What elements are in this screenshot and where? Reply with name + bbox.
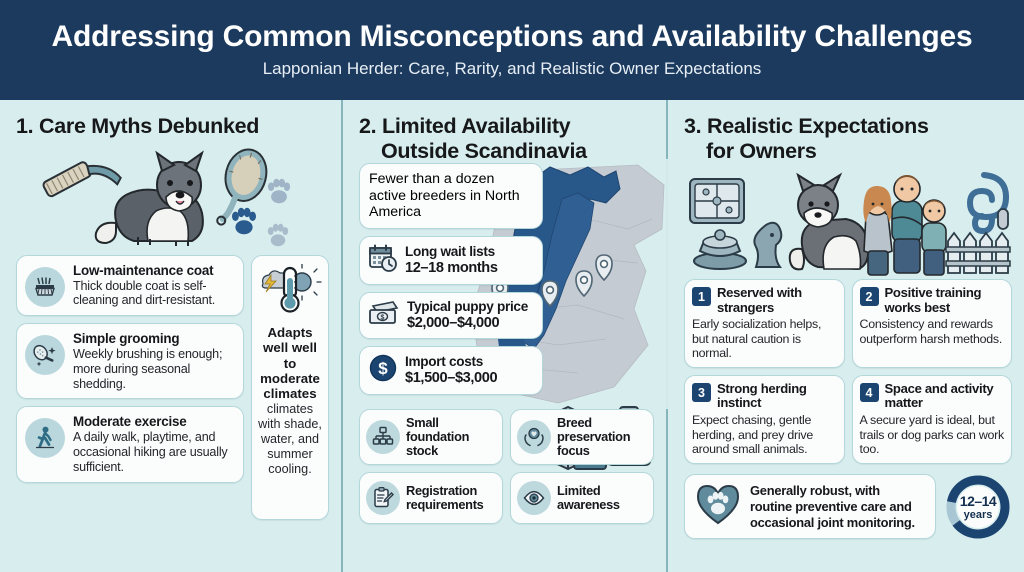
heart-paw-icon [695, 483, 741, 530]
hair-brush-icon [213, 145, 271, 232]
climate-headline: Adapts well well to moderate climates [257, 325, 323, 402]
family-father [892, 175, 922, 273]
column-3-title-line1: 3. Realistic Expectations [684, 114, 1012, 139]
card-description: Thick double coat is self-cleaning and d… [73, 279, 234, 308]
cloud-lightning-icon [262, 271, 286, 292]
column-3-cards-grid: 1 Reserved with strangers Early socializ… [684, 279, 1012, 463]
breed-preservation-focus-label: Breed preservation focus [557, 416, 647, 458]
dollar-coin-icon: $ [368, 353, 398, 388]
column-2-fact-stack: Fewer than a dozen active breeders in No… [359, 163, 543, 394]
card-title: Strong herding instinct [717, 382, 837, 411]
column-1-hero-art [16, 141, 329, 251]
column-1-climate-column: Adapts well well to moderate climates cl… [251, 255, 329, 520]
card-low-maintenance-coat[interactable]: Low-maintenance coat Thick double coat i… [16, 255, 244, 316]
page-subtitle: Lapponian Herder: Care, Rarity, and Real… [263, 59, 762, 79]
hands-heart-icon [517, 420, 551, 454]
puzzle-toy-icon [690, 179, 744, 223]
lapponian-herder-dog [790, 175, 869, 269]
card-title: Simple grooming [73, 331, 234, 346]
card-moderate-exercise[interactable]: Moderate exercise A daily walk, playtime… [16, 406, 244, 482]
card-positive-training[interactable]: 2 Positive training works best Consisten… [852, 279, 1013, 368]
limited-awareness-label: Limited awareness [557, 484, 647, 512]
card-description: A secure yard is ideal, but trails or do… [860, 413, 1005, 457]
column-2-tag-grid: Small foundation stock Breed preservatio… [359, 409, 654, 524]
card-heading: 3 Strong herding instinct [692, 382, 837, 411]
paw-print-icon [232, 207, 256, 234]
card-limited-awareness[interactable]: Limited awareness [510, 472, 654, 524]
card-climate-adaptability[interactable]: Adapts well well to moderate climates cl… [251, 255, 329, 520]
card-title: Reserved with strangers [717, 286, 837, 315]
column-2-content: Fewer than a dozen active breeders in No… [359, 163, 654, 524]
eye-icon [517, 481, 551, 515]
header-banner: Addressing Common Misconceptions and Ava… [0, 0, 1024, 100]
column-2-title-line1: 2. Limited Availability [359, 114, 654, 139]
climate-description: climates with shade, water, and summer c… [257, 402, 323, 478]
lifespan-unit: years [964, 509, 993, 521]
family-group [863, 175, 946, 275]
card-description: Consistency and rewards outperform harsh… [860, 317, 1005, 346]
page-title: Addressing Common Misconceptions and Ava… [52, 21, 973, 53]
puppy-price-label: Typical puppy price [407, 299, 528, 314]
number-badge-4: 4 [860, 383, 879, 402]
card-import-costs[interactable]: $ Import costs $1,500–$3,000 [359, 346, 543, 395]
wait-list-text: Long wait lists 12–18 months [405, 244, 498, 276]
cash-icon: $ [368, 299, 400, 332]
column-3-title-line2: for Owners [684, 139, 1012, 164]
card-simple-grooming[interactable]: Simple grooming Weekly brushing is enoug… [16, 323, 244, 399]
org-chart-icon [366, 420, 400, 454]
small-foundation-stock-label: Small foundation stock [406, 416, 496, 458]
card-registration-requirements[interactable]: Registration requirements [359, 472, 503, 524]
column-care-myths: 1. Care Myths Debunked [0, 100, 341, 572]
wait-list-value: 12–18 months [405, 260, 498, 276]
card-strong-herding-instinct[interactable]: 3 Strong herding instinct Expect chasing… [684, 375, 845, 464]
card-description: Early socialization helps, but natural c… [692, 317, 837, 361]
card-text: Low-maintenance coat Thick double coat i… [73, 263, 234, 308]
lapponian-herder-dog [96, 153, 203, 246]
columns-container: 1. Care Myths Debunked [0, 100, 1024, 572]
column-1-card-stack: Low-maintenance coat Thick double coat i… [16, 255, 244, 520]
card-description: Weekly brushing is enough; more during s… [73, 347, 234, 391]
paw-print-icon [268, 178, 290, 202]
card-title: Moderate exercise [73, 414, 234, 429]
number-badge-3: 3 [692, 383, 711, 402]
import-costs-value: $1,500–$3,000 [405, 370, 497, 386]
card-long-wait-lists[interactable]: Long wait lists 12–18 months [359, 236, 543, 285]
column-3-health-row: Generally robust, with routine preventiv… [684, 473, 1012, 541]
puppy-price-value: $2,000–$4,000 [407, 315, 528, 331]
health-summary-text: Generally robust, with routine preventiv… [750, 483, 925, 530]
import-costs-text: Import costs $1,500–$3,000 [405, 354, 497, 386]
card-small-foundation-stock[interactable]: Small foundation stock [359, 409, 503, 465]
wait-list-label: Long wait lists [405, 244, 498, 259]
card-description: Expect chasing, gentle herding, and prey… [692, 413, 837, 457]
column-1-cards-grid: Low-maintenance coat Thick double coat i… [16, 255, 329, 520]
calendar-clock-icon [368, 243, 398, 278]
card-text: Simple grooming Weekly brushing is enoug… [73, 331, 234, 391]
column-3-hero-art [684, 165, 1012, 277]
walking-person-icon [25, 418, 65, 458]
svg-text:$: $ [378, 359, 388, 378]
paw-print-icon [268, 223, 288, 245]
number-badge-2: 2 [860, 287, 879, 306]
brush-icon [25, 267, 65, 307]
svg-text:$: $ [381, 314, 385, 321]
thermometer-icon [282, 268, 299, 312]
lifespan-ring: 12–14 years [944, 473, 1012, 541]
fence-icon [946, 233, 1010, 273]
infographic-page: Addressing Common Misconceptions and Ava… [0, 0, 1024, 572]
card-heading: 1 Reserved with strangers [692, 286, 837, 315]
sun-icon [293, 264, 321, 300]
card-space-and-activity[interactable]: 4 Space and activity matter A secure yar… [852, 375, 1013, 464]
card-breed-preservation-focus[interactable]: Breed preservation focus [510, 409, 654, 465]
column-1-title: 1. Care Myths Debunked [16, 114, 329, 139]
fewer-breeders-label: Fewer than a dozen active breeders in No… [369, 171, 533, 220]
card-title: Positive training works best [885, 286, 1005, 315]
card-heading: 4 Space and activity matter [860, 382, 1005, 411]
card-heading: 2 Positive training works best [860, 286, 1005, 315]
leash-icon [970, 175, 1008, 231]
card-reserved-with-strangers[interactable]: 1 Reserved with strangers Early socializ… [684, 279, 845, 368]
lifespan-value: 12–14 [960, 493, 996, 509]
dog-bowl-icon [694, 230, 746, 269]
column-limited-availability: 2. Limited Availability Outside Scandina… [341, 100, 668, 572]
chew-toy-icon [754, 223, 781, 267]
card-description: A daily walk, playtime, and occasional h… [73, 430, 234, 474]
clipboard-pen-icon [366, 481, 400, 515]
card-fewer-breeders[interactable]: Fewer than a dozen active breeders in No… [359, 163, 543, 228]
card-title: Low-maintenance coat [73, 263, 234, 278]
card-title: Space and activity matter [885, 382, 1005, 411]
import-costs-label: Import costs [405, 354, 497, 369]
card-text: Moderate exercise A daily walk, playtime… [73, 414, 234, 474]
brush-icon [42, 149, 122, 215]
family-child [922, 200, 946, 275]
registration-requirements-label: Registration requirements [406, 484, 496, 512]
puppy-price-text: Typical puppy price $2,000–$4,000 [407, 299, 528, 331]
lifespan-text: 12–14 years [944, 473, 1012, 541]
column-realistic-expectations: 3. Realistic Expectations for Owners [668, 100, 1024, 572]
column-3-title: 3. Realistic Expectations for Owners [684, 114, 1012, 163]
thermometer-sun-icon [257, 264, 323, 319]
number-badge-1: 1 [692, 287, 711, 306]
family-mother [863, 186, 892, 275]
card-puppy-price[interactable]: $ Typical puppy price $2,000–$4,000 [359, 292, 543, 339]
grooming-brush-sparkle-icon [25, 335, 65, 375]
card-health-summary[interactable]: Generally robust, with routine preventiv… [684, 474, 936, 539]
column-2-title: 2. Limited Availability Outside Scandina… [359, 114, 654, 163]
